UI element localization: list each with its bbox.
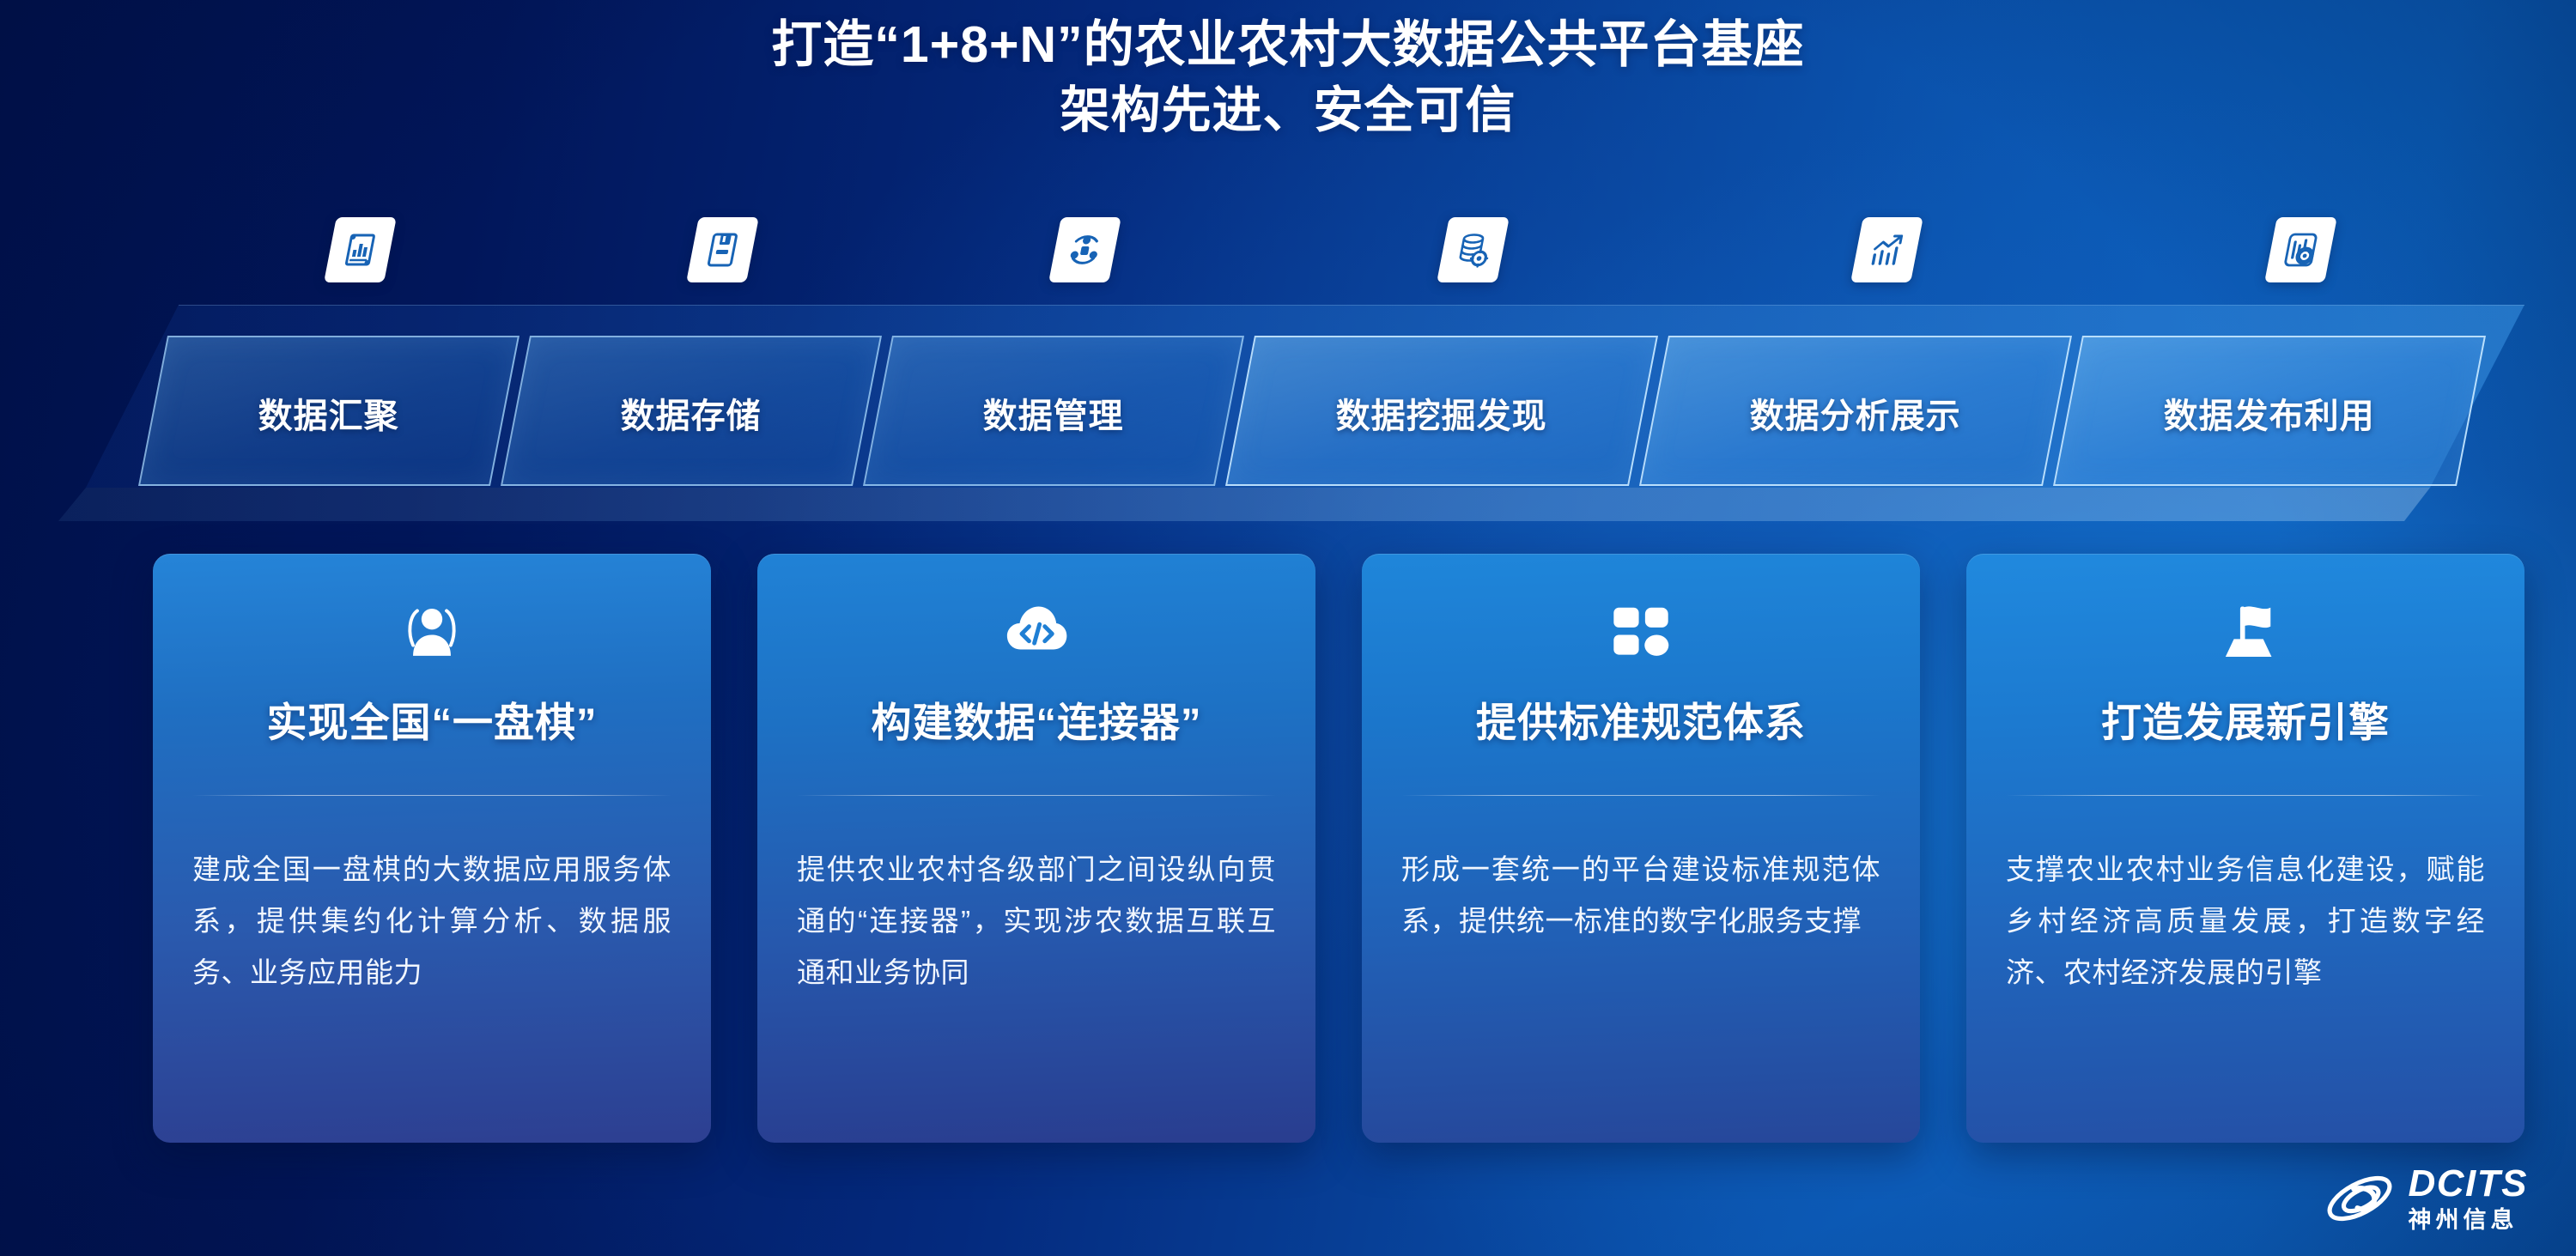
feature-card-1[interactable]: 实现全国“一盘棋” 建成全国一盘棋的大数据应用服务体系，提供集约化计算分析、数据… (153, 554, 711, 1143)
database-gear-icon (1437, 217, 1510, 282)
title-line-2: 架构先进、安全可信 (0, 78, 2576, 143)
ribbon-step-6[interactable]: 数据发布利用 (2053, 336, 2486, 486)
feature-card-2[interactable]: 构建数据“连接器” 提供农业农村各级部门之间设纵向贯通的“连接器”，实现涉农数据… (757, 554, 1315, 1143)
card-divider (1401, 795, 1880, 796)
process-steps: 数据汇聚 数据存储 数据管理 (0, 305, 2576, 524)
ribbon-step-4[interactable]: 数据挖掘发现 (1225, 336, 1658, 486)
feature-card-3-title: 提供标准规范体系 (1401, 689, 1880, 749)
company-logo: DCITS 神州信息 (2323, 1165, 2529, 1232)
swirl-spiral-icon (2323, 1168, 2397, 1229)
card-divider (2006, 795, 2485, 796)
feature-card-4[interactable]: 打造发展新引擎 支撑农业农村业务信息化建设，赋能乡村经济高质量发展，打造数字经济… (1966, 554, 2524, 1143)
feature-card-4-body: 支撑农业农村业务信息化建设，赋能乡村经济高质量发展，打造数字经济、农村经济发展的… (2006, 844, 2485, 998)
ribbon-step-6-label: 数据发布利用 (2069, 337, 2470, 488)
page-title: 打造“1+8+N”的农业农村大数据公共平台基座 架构先进、安全可信 (0, 12, 2576, 143)
ribbon-step-1-label: 数据汇聚 (155, 337, 503, 488)
ribbon-step-3-label: 数据管理 (879, 337, 1228, 488)
feature-card-3-body: 形成一套统一的平台建设标准规范体系，提供统一标准的数字化服务支撑 (1401, 844, 1880, 947)
ribbon-step-4-label: 数据挖掘发现 (1242, 337, 1642, 488)
users-group-icon (192, 592, 671, 674)
feature-card-4-title: 打造发展新引擎 (2006, 689, 2485, 749)
title-line-1: 打造“1+8+N”的农业农村大数据公共平台基座 (0, 12, 2576, 78)
bar-chart-trend-icon (1850, 217, 1923, 282)
publish-gear-icon (2264, 217, 2337, 282)
ribbon-step-3[interactable]: 数据管理 (863, 336, 1244, 486)
logo-cn-text: 神州信息 (2409, 1209, 2529, 1232)
ribbon-step-5-label: 数据分析展示 (1656, 337, 2056, 488)
card-divider (192, 795, 671, 796)
user-network-icon (1048, 217, 1121, 282)
data-chart-document-icon (324, 217, 397, 282)
cloud-code-icon (797, 592, 1276, 674)
grid-blocks-icon (1401, 592, 1880, 674)
feature-card-2-body: 提供农业农村各级部门之间设纵向贯通的“连接器”，实现涉农数据互联互通和业务协同 (797, 844, 1276, 998)
ribbon-step-5[interactable]: 数据分析展示 (1639, 336, 2072, 486)
ribbon-step-2-label: 数据存储 (517, 337, 866, 488)
book-save-icon (686, 217, 759, 282)
ribbon-step-1[interactable]: 数据汇聚 (138, 336, 519, 486)
feature-card-1-title: 实现全国“一盘棋” (192, 689, 671, 749)
feature-card-3[interactable]: 提供标准规范体系 形成一套统一的平台建设标准规范体系，提供统一标准的数字化服务支… (1362, 554, 1920, 1143)
card-divider (797, 795, 1276, 796)
flag-icon (2006, 592, 2485, 674)
feature-card-2-title: 构建数据“连接器” (797, 689, 1276, 749)
logo-en-text: DCITS (2409, 1165, 2529, 1203)
feature-card-1-body: 建成全国一盘棋的大数据应用服务体系，提供集约化计算分析、数据服务、业务应用能力 (192, 844, 671, 998)
feature-card-list: 实现全国“一盘棋” 建成全国一盘棋的大数据应用服务体系，提供集约化计算分析、数据… (0, 554, 2576, 1146)
ribbon-step-2[interactable]: 数据存储 (501, 336, 882, 486)
